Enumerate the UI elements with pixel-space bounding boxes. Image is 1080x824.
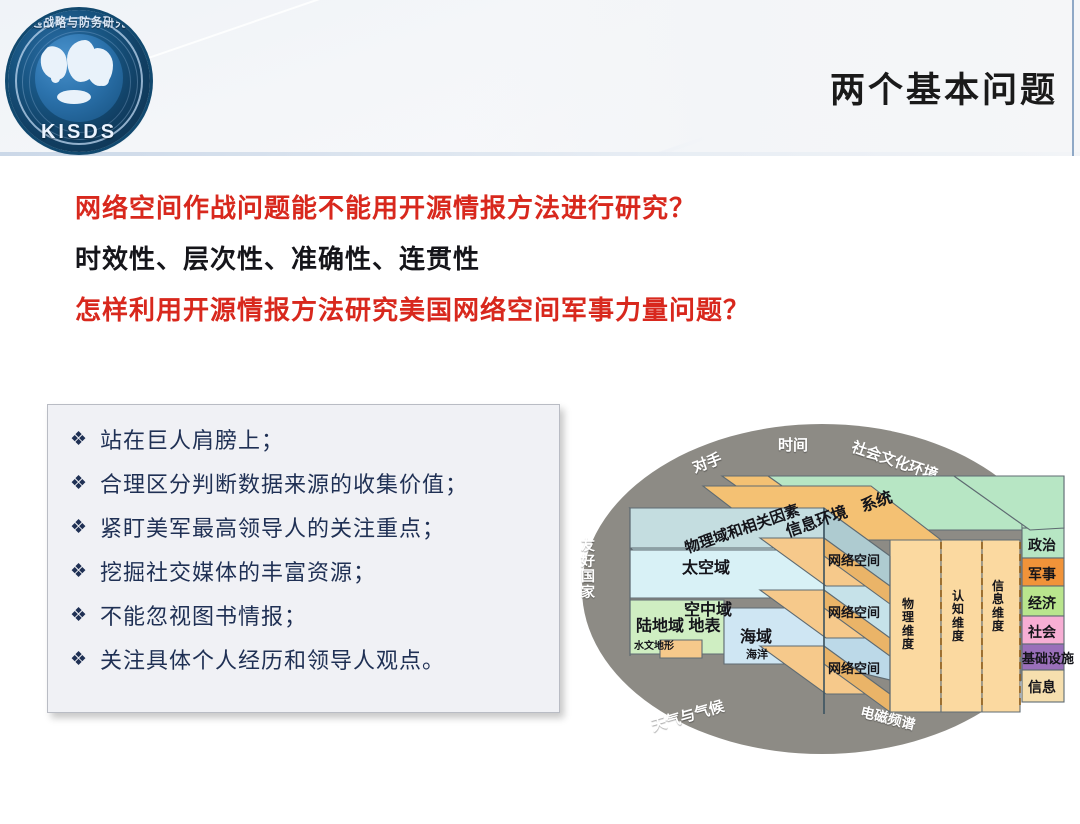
diamond-bullet-icon: ❖: [70, 515, 100, 541]
cyber-band-label-3: 网络空间: [828, 658, 880, 677]
header-baseline: [0, 152, 1080, 156]
band-label-political: 政治: [1028, 535, 1056, 555]
band-label-infrastructure: 基础设施: [1022, 648, 1074, 667]
list-item-label: 站在巨人肩膀上；: [100, 427, 284, 455]
list-item: ❖ 紧盯美军最高领导人的关注重点；: [70, 515, 545, 559]
layer-label-maritime: 海域: [740, 623, 772, 647]
layer-sublabel-ocean: 海洋: [746, 646, 768, 662]
list-item-label: 不能忽视图书情报；: [100, 603, 307, 631]
dimension-label-informational: 信息维度: [992, 580, 1004, 634]
list-item-label: 合理区分判断数据来源的收集价值；: [100, 471, 468, 499]
layer-label-space: 太空域: [682, 554, 730, 578]
header-right-rule: [1072, 0, 1074, 156]
headline-2: 时效性、层次性、准确性、连贯性: [75, 247, 480, 273]
layer-label-land: 陆地域 地表: [636, 612, 720, 636]
headline-1: 网络空间作战问题能不能用开源情报方法进行研究？: [75, 196, 696, 222]
diamond-bullet-icon: ❖: [70, 471, 100, 497]
band-label-economic: 经济: [1028, 593, 1056, 613]
list-item-label: 关注具体个人经历和领导人观点。: [100, 647, 445, 675]
headline-3: 怎样利用开源情报方法研究美国网络空间军事力量问题？: [75, 298, 750, 324]
slide: 知远战略与防务研究所 KISDS 两个基本问题 网络空间作战问题能不能用开源情报…: [0, 0, 1080, 824]
page-title: 两个基本问题: [830, 62, 1058, 113]
diamond-bullet-icon: ❖: [70, 427, 100, 453]
band-label-social: 社会: [1028, 622, 1056, 642]
band-label-military: 军事: [1028, 564, 1056, 584]
cyber-band-label-2: 网络空间: [828, 602, 880, 621]
list-item-label: 挖掘社交媒体的丰富资源；: [100, 559, 376, 587]
diamond-bullet-icon: ❖: [70, 647, 100, 673]
cyber-band-label-1: 网络空间: [828, 550, 880, 569]
list-item: ❖ 挖掘社交媒体的丰富资源；: [70, 559, 545, 603]
dimension-label-cognitive: 认知维度: [952, 590, 964, 644]
cyberspace-domain-diagram: 时间 对手 社会文化环境 友好国家 中立国 天气与气候 电磁频谱 .st{str…: [572, 418, 1072, 763]
institute-logo: 知远战略与防务研究所 KISDS: [8, 10, 150, 152]
diamond-bullet-icon: ❖: [70, 559, 100, 585]
slide-header: 知远战略与防务研究所 KISDS 两个基本问题: [0, 0, 1080, 156]
logo-bottom-text: KISDS: [8, 121, 150, 144]
list-item: ❖ 合理区分判断数据来源的收集价值；: [70, 471, 545, 515]
list-item: ❖ 关注具体个人经历和领导人观点。: [70, 647, 545, 691]
list-item-label: 紧盯美军最高领导人的关注重点；: [100, 515, 445, 543]
bullet-list: ❖ 站在巨人肩膀上； ❖ 合理区分判断数据来源的收集价值； ❖ 紧盯美军最高领导…: [70, 427, 545, 691]
list-item: ❖ 不能忽视图书情报；: [70, 603, 545, 647]
diamond-bullet-icon: ❖: [70, 603, 100, 629]
logo-top-text-value: 知远战略与防务研究所: [19, 13, 139, 31]
band-label-information: 信息: [1028, 677, 1056, 697]
dimension-label-physical: 物理维度: [902, 598, 914, 652]
list-item: ❖ 站在巨人肩膀上；: [70, 427, 545, 471]
bullet-card: ❖ 站在巨人肩膀上； ❖ 合理区分判断数据来源的收集价值； ❖ 紧盯美军最高领导…: [47, 404, 560, 713]
logo-top-text: 知远战略与防务研究所: [8, 14, 150, 84]
layer-sublabel-hydro-terrain: 水文地形: [634, 637, 674, 652]
